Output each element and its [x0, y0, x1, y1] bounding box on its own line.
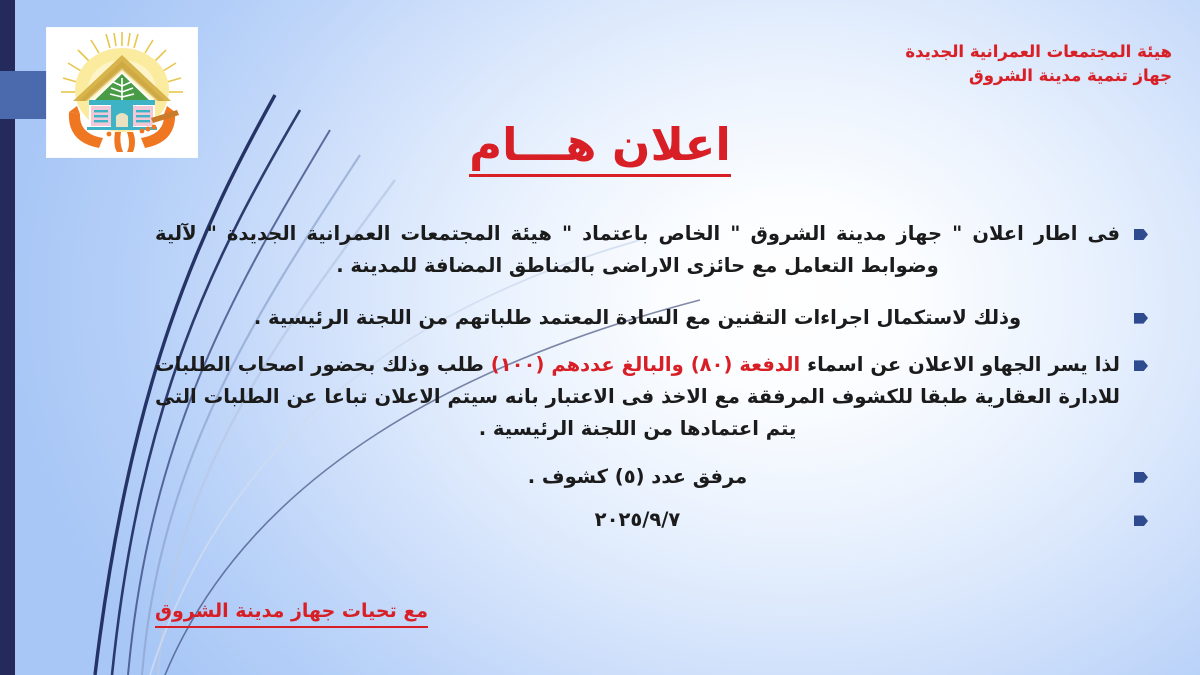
bullet-attachments-text: مرفق عدد (٥) كشوف . [155, 461, 1120, 493]
list-item: مرفق عدد (٥) كشوف . [155, 461, 1148, 493]
bullet-batch-announcement-text: لذا يسر الجهاو الاعلان عن اسماء الدفعة (… [155, 349, 1120, 444]
org-header-line-1: هيئة المجتمعات العمرانية الجديدة [905, 40, 1172, 64]
left-slate-block [0, 71, 47, 119]
page-title: اعلان هـــام [0, 122, 1200, 167]
list-item: لذا يسر الجهاو الاعلان عن اسماء الدفعة (… [155, 349, 1148, 444]
arrow-bullet-icon [1134, 515, 1148, 526]
org-header-line-2: جهاز تنمية مدينة الشروق [905, 64, 1172, 88]
announcement-date: ٢٠٢٥/٩/٧ [155, 504, 1120, 535]
arrow-bullet-icon [1134, 313, 1148, 324]
bullet-completion-text: وذلك لاستكمال اجراءات التقنين مع السادة … [155, 302, 1120, 334]
arrow-bullet-icon [1134, 360, 1148, 371]
organization-header: هيئة المجتمعات العمرانية الجديدة جهاز تن… [905, 40, 1172, 88]
batch-highlight: الدفعة (٨٠) والبالغ عددهم (١٠٠) [491, 353, 800, 376]
announcement-slide: هيئة المجتمعات العمرانية الجديدة جهاز تن… [0, 0, 1200, 675]
page-title-text: اعلان هـــام [469, 118, 731, 177]
list-item: فى اطار اعلان " جهاز مدينة الشروق " الخا… [155, 218, 1148, 282]
arrow-bullet-icon [1134, 229, 1148, 240]
bullet-framework-text: فى اطار اعلان " جهاز مدينة الشروق " الخا… [155, 218, 1120, 282]
announcement-body: فى اطار اعلان " جهاز مدينة الشروق " الخا… [155, 218, 1148, 552]
list-item: وذلك لاستكمال اجراءات التقنين مع السادة … [155, 302, 1148, 334]
footer-signature: مع تحيات جهاز مدينة الشروق [155, 598, 428, 628]
batch-text-before: لذا يسر الجهاو الاعلان عن اسماء [800, 353, 1120, 376]
arrow-bullet-icon [1134, 472, 1148, 483]
list-item-date: ٢٠٢٥/٩/٧ [155, 504, 1148, 535]
